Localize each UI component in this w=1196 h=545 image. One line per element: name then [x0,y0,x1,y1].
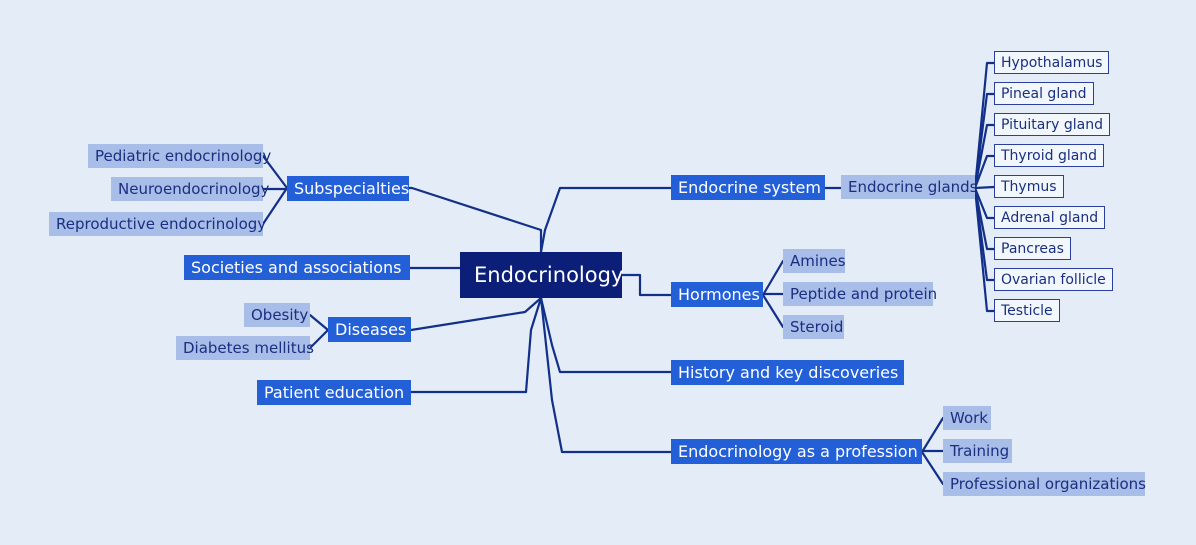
leaf-training-label: Training [950,444,1009,459]
leaf-pediatric-endocrinology[interactable]: Pediatric endocrinology [88,144,263,168]
wire-root-diseases [411,298,541,330]
gland-adrenal-gland[interactable]: Adrenal gland [994,206,1105,229]
leaf-reproductive-endocrinology[interactable]: Reproductive endocrinology [49,212,263,236]
gland-hypothalamus-label: Hypothalamus [1001,56,1102,70]
branch-endocrinology-as-a-profession-label: Endocrinology as a profession [678,444,918,460]
leaf-diabetes-mellitus[interactable]: Diabetes mellitus [176,336,310,360]
branch-endocrinology-as-a-profession[interactable]: Endocrinology as a profession [671,439,922,464]
root-node-endocrinology[interactable]: Endocrinology [460,252,622,298]
branch-history-and-key-discoveries-label: History and key discoveries [678,365,898,381]
mindmap-canvas: Endocrinology Subspecialties Pediatric e… [0,0,1196,545]
branch-endocrine-system-label: Endocrine system [678,180,821,196]
wire-hormones-amines [763,261,783,295]
gland-thymus[interactable]: Thymus [994,175,1064,198]
branch-hormones[interactable]: Hormones [671,282,763,307]
gland-pituitary-gland-label: Pituitary gland [1001,118,1103,132]
leaf-peptide-and-protein[interactable]: Peptide and protein [783,282,933,306]
branch-subspecialties-label: Subspecialties [294,181,409,197]
leaf-training[interactable]: Training [943,439,1012,463]
leaf-work[interactable]: Work [943,406,991,430]
gland-thymus-label: Thymus [1001,180,1057,194]
gland-ovarian-follicle-label: Ovarian follicle [1001,273,1106,287]
branch-endocrine-system[interactable]: Endocrine system [671,175,825,200]
gland-pineal-gland[interactable]: Pineal gland [994,82,1094,105]
wire-glands-ovarian [975,188,994,280]
leaf-obesity-label: Obesity [251,308,308,323]
gland-testicle-label: Testicle [1001,304,1053,318]
wire-glands-pineal [975,94,994,188]
root-label: Endocrinology [474,265,623,286]
leaf-neuroendocrinology[interactable]: Neuroendocrinology [111,177,263,201]
gland-pituitary-gland[interactable]: Pituitary gland [994,113,1110,136]
wire-root-patient-education [411,298,541,392]
wire-root-profession [541,298,671,452]
wire-profession-orgs [922,452,943,484]
leaf-pediatric-endocrinology-label: Pediatric endocrinology [95,149,271,164]
leaf-obesity[interactable]: Obesity [244,303,310,327]
branch-societies-and-associations-label: Societies and associations [191,260,402,276]
gland-testicle[interactable]: Testicle [994,299,1060,322]
branch-diseases[interactable]: Diseases [328,317,411,342]
gland-thyroid-gland-label: Thyroid gland [1001,149,1097,163]
wire-glands-pancreas [975,188,994,249]
leaf-diabetes-mellitus-label: Diabetes mellitus [183,341,314,356]
branch-societies-and-associations[interactable]: Societies and associations [184,255,410,280]
gland-ovarian-follicle[interactable]: Ovarian follicle [994,268,1113,291]
gland-hypothalamus[interactable]: Hypothalamus [994,51,1109,74]
leaf-neuroendocrinology-label: Neuroendocrinology [118,182,269,197]
wire-glands-hypothalamus [975,63,994,188]
gland-adrenal-gland-label: Adrenal gland [1001,211,1098,225]
gland-pancreas[interactable]: Pancreas [994,237,1071,260]
branch-subspecialties[interactable]: Subspecialties [287,176,409,201]
branch-patient-education-label: Patient education [264,385,404,401]
wire-root-hormones [622,275,671,295]
branch-hormones-label: Hormones [678,287,760,303]
leaf-endocrine-glands[interactable]: Endocrine glands [841,175,975,199]
leaf-amines[interactable]: Amines [783,249,845,273]
gland-pancreas-label: Pancreas [1001,242,1064,256]
leaf-endocrine-glands-label: Endocrine glands [848,180,978,195]
leaf-peptide-and-protein-label: Peptide and protein [790,287,937,302]
leaf-amines-label: Amines [790,254,846,269]
branch-patient-education[interactable]: Patient education [257,380,411,405]
leaf-reproductive-endocrinology-label: Reproductive endocrinology [56,217,266,232]
wire-root-endocrine-system [541,188,671,252]
leaf-professional-organizations-label: Professional organizations [950,477,1146,492]
branch-diseases-label: Diseases [335,322,406,338]
leaf-steroid-label: Steroid [790,320,843,335]
wire-root-history [541,298,671,372]
wire-hormones-steroid [763,295,783,327]
leaf-steroid[interactable]: Steroid [783,315,844,339]
branch-history-and-key-discoveries[interactable]: History and key discoveries [671,360,904,385]
wire-diseases-obesity [310,315,328,330]
leaf-work-label: Work [950,411,988,426]
gland-pineal-gland-label: Pineal gland [1001,87,1087,101]
gland-thyroid-gland[interactable]: Thyroid gland [994,144,1104,167]
leaf-professional-organizations[interactable]: Professional organizations [943,472,1145,496]
wire-profession-work [922,418,943,452]
wire-glands-testicle [975,188,994,311]
